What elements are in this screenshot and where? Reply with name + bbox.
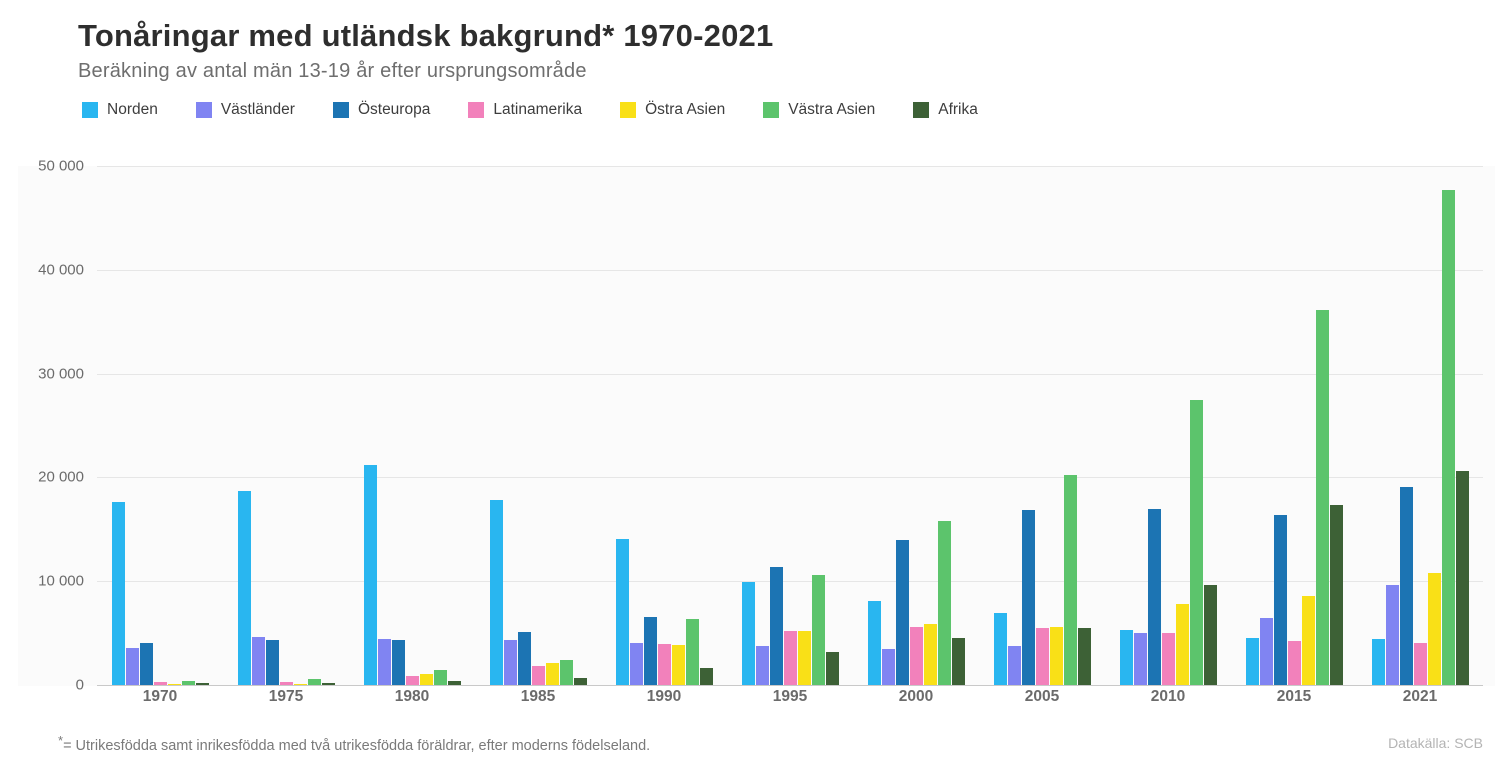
- page-subtitle: Beräkning av antal män 13-19 år efter ur…: [78, 60, 1505, 83]
- legend-item-label: Latinamerika: [493, 101, 582, 119]
- bar-västra-asien-1980[interactable]: [434, 670, 447, 685]
- page-title: Tonåringar med utländsk bakgrund* 1970-2…: [78, 18, 1505, 54]
- bar-östra-asien-1975[interactable]: [294, 684, 307, 685]
- bar-latinamerika-1975[interactable]: [280, 682, 293, 685]
- bar-afrika-2021[interactable]: [1456, 471, 1469, 685]
- bar-group-1970: [97, 166, 223, 685]
- bar-västländer-2010[interactable]: [1134, 633, 1147, 685]
- bar-östeuropa-2000[interactable]: [896, 540, 909, 685]
- legend-swatch-icon: [196, 102, 212, 118]
- bar-östeuropa-2021[interactable]: [1400, 487, 1413, 685]
- bar-östra-asien-1985[interactable]: [546, 663, 559, 685]
- bar-östra-asien-1995[interactable]: [798, 631, 811, 685]
- legend-item-label: Östra Asien: [645, 101, 725, 119]
- bar-östra-asien-1970[interactable]: [168, 684, 181, 685]
- bar-norden-1970[interactable]: [112, 502, 125, 685]
- y-axis-tick-label: 50 000: [0, 158, 84, 175]
- bar-västra-asien-1990[interactable]: [686, 619, 699, 685]
- bar-group-2021: [1357, 166, 1483, 685]
- x-axis-tick-label: 1985: [475, 688, 601, 706]
- bar-norden-2021[interactable]: [1372, 639, 1385, 685]
- x-axis-tick-label: 2000: [853, 688, 979, 706]
- bar-östeuropa-1990[interactable]: [644, 617, 657, 686]
- data-source: Datakälla: SCB: [1388, 735, 1483, 751]
- x-axis-tick-label: 2005: [979, 688, 1105, 706]
- bar-västländer-1975[interactable]: [252, 637, 265, 685]
- bar-norden-1975[interactable]: [238, 491, 251, 685]
- bar-östra-asien-2010[interactable]: [1176, 604, 1189, 685]
- bar-group-2015: [1231, 166, 1357, 685]
- bar-västra-asien-1975[interactable]: [308, 679, 321, 685]
- bar-västra-asien-2015[interactable]: [1316, 310, 1329, 685]
- bar-latinamerika-1985[interactable]: [532, 666, 545, 685]
- legend-item-latinamerika[interactable]: Latinamerika: [468, 101, 582, 119]
- bar-group-1980: [349, 166, 475, 685]
- legend-swatch-icon: [82, 102, 98, 118]
- bar-västländer-2000[interactable]: [882, 649, 895, 685]
- bar-norden-2005[interactable]: [994, 613, 1007, 685]
- bar-östra-asien-2021[interactable]: [1428, 573, 1441, 685]
- legend-swatch-icon: [763, 102, 779, 118]
- bar-afrika-2015[interactable]: [1330, 505, 1343, 685]
- x-axis-labels: 1970197519801985199019952000200520102015…: [97, 688, 1483, 706]
- legend-item-label: Östeuropa: [358, 101, 430, 119]
- bar-östra-asien-1990[interactable]: [672, 645, 685, 685]
- bar-västra-asien-1970[interactable]: [182, 681, 195, 685]
- bar-afrika-2010[interactable]: [1204, 585, 1217, 685]
- x-axis-tick-label: 2015: [1231, 688, 1357, 706]
- bar-afrika-1970[interactable]: [196, 683, 209, 685]
- bar-group-2005: [979, 166, 1105, 685]
- legend-item-norden[interactable]: Norden: [82, 101, 158, 119]
- bar-latinamerika-1990[interactable]: [658, 644, 671, 685]
- chart-footer: *= Utrikesfödda samt inrikesfödda med tv…: [0, 728, 1505, 758]
- bar-västländer-2005[interactable]: [1008, 646, 1021, 685]
- bar-latinamerika-2005[interactable]: [1036, 628, 1049, 685]
- legend-swatch-icon: [913, 102, 929, 118]
- bar-östra-asien-2005[interactable]: [1050, 627, 1063, 685]
- y-axis-tick-label: 40 000: [0, 261, 84, 278]
- bar-afrika-1995[interactable]: [826, 652, 839, 685]
- bar-latinamerika-2015[interactable]: [1288, 641, 1301, 685]
- legend-item-label: Västra Asien: [788, 101, 875, 119]
- bar-östeuropa-1995[interactable]: [770, 567, 783, 685]
- bar-västra-asien-1985[interactable]: [560, 660, 573, 685]
- bar-västra-asien-1995[interactable]: [812, 575, 825, 685]
- bar-group-2000: [853, 166, 979, 685]
- bar-östeuropa-1975[interactable]: [266, 640, 279, 685]
- y-axis-tick-label: 20 000: [0, 469, 84, 486]
- bar-östeuropa-1985[interactable]: [518, 632, 531, 685]
- bar-afrika-2005[interactable]: [1078, 628, 1091, 685]
- chart-plot-area: 010 00020 00030 00040 00050 000: [0, 166, 1505, 688]
- bar-afrika-1980[interactable]: [448, 681, 461, 685]
- bar-afrika-1975[interactable]: [322, 683, 335, 685]
- x-axis-tick-label: 1970: [97, 688, 223, 706]
- x-axis-tick-label: 1975: [223, 688, 349, 706]
- bar-östeuropa-2015[interactable]: [1274, 515, 1287, 685]
- bar-västländer-1990[interactable]: [630, 643, 643, 685]
- chart-legend: NordenVästländerÖsteuropaLatinamerikaÖst…: [0, 83, 1505, 119]
- chart-header: Tonåringar med utländsk bakgrund* 1970-2…: [0, 0, 1505, 83]
- bar-västra-asien-2021[interactable]: [1442, 190, 1455, 685]
- x-axis-tick-label: 2010: [1105, 688, 1231, 706]
- bar-västra-asien-2010[interactable]: [1190, 400, 1203, 685]
- bar-östra-asien-1980[interactable]: [420, 674, 433, 685]
- bar-latinamerika-2010[interactable]: [1162, 633, 1175, 685]
- legend-item-label: Norden: [107, 101, 158, 119]
- bar-västra-asien-2005[interactable]: [1064, 475, 1077, 685]
- bar-västländer-1980[interactable]: [378, 639, 391, 685]
- bar-östeuropa-2010[interactable]: [1148, 509, 1161, 685]
- bar-afrika-1990[interactable]: [700, 668, 713, 685]
- bars-layer: [97, 166, 1483, 685]
- y-axis-tick-label: 10 000: [0, 573, 84, 590]
- legend-item-västra-asien[interactable]: Västra Asien: [763, 101, 875, 119]
- x-axis-tick-label: 1995: [727, 688, 853, 706]
- bar-latinamerika-1970[interactable]: [154, 682, 167, 685]
- bar-group-1985: [475, 166, 601, 685]
- bar-västländer-1970[interactable]: [126, 648, 139, 685]
- bar-norden-1980[interactable]: [364, 465, 377, 685]
- bar-norden-1995[interactable]: [742, 582, 755, 685]
- bar-västländer-2015[interactable]: [1260, 618, 1273, 685]
- bar-group-2010: [1105, 166, 1231, 685]
- bar-norden-2000[interactable]: [868, 601, 881, 685]
- bar-norden-2015[interactable]: [1246, 638, 1259, 685]
- bar-västländer-2021[interactable]: [1386, 585, 1399, 685]
- bar-östeuropa-1980[interactable]: [392, 640, 405, 685]
- legend-item-östra-asien[interactable]: Östra Asien: [620, 101, 725, 119]
- bar-latinamerika-2000[interactable]: [910, 627, 923, 685]
- x-axis-tick-label: 2021: [1357, 688, 1483, 706]
- bar-group-1995: [727, 166, 853, 685]
- y-axis-tick-label: 0: [0, 677, 84, 694]
- legend-item-label: Västländer: [221, 101, 295, 119]
- bar-afrika-1985[interactable]: [574, 678, 587, 685]
- legend-swatch-icon: [468, 102, 484, 118]
- footnote-text: = Utrikesfödda samt inrikesfödda med två…: [63, 738, 650, 754]
- x-axis-tick-label: 1990: [601, 688, 727, 706]
- gridline: [97, 685, 1483, 686]
- bar-norden-1985[interactable]: [490, 500, 503, 685]
- bar-östra-asien-2000[interactable]: [924, 624, 937, 685]
- legend-item-label: Afrika: [938, 101, 978, 119]
- legend-item-västländer[interactable]: Västländer: [196, 101, 295, 119]
- bar-norden-2010[interactable]: [1120, 630, 1133, 685]
- legend-item-östeuropa[interactable]: Östeuropa: [333, 101, 430, 119]
- bar-latinamerika-2021[interactable]: [1414, 643, 1427, 685]
- bar-östra-asien-2015[interactable]: [1302, 596, 1315, 685]
- legend-item-afrika[interactable]: Afrika: [913, 101, 978, 119]
- legend-swatch-icon: [620, 102, 636, 118]
- bar-västländer-1985[interactable]: [504, 640, 517, 685]
- bar-afrika-2000[interactable]: [952, 638, 965, 685]
- bar-group-1975: [223, 166, 349, 685]
- bar-västra-asien-2000[interactable]: [938, 521, 951, 685]
- x-axis-tick-label: 1980: [349, 688, 475, 706]
- bar-latinamerika-1980[interactable]: [406, 676, 419, 685]
- bar-östeuropa-2005[interactable]: [1022, 510, 1035, 685]
- footnote: *= Utrikesfödda samt inrikesfödda med tv…: [58, 733, 650, 754]
- y-axis-tick-label: 30 000: [0, 365, 84, 382]
- bar-västländer-1995[interactable]: [756, 646, 769, 685]
- bar-östeuropa-1970[interactable]: [140, 643, 153, 685]
- legend-swatch-icon: [333, 102, 349, 118]
- bar-norden-1990[interactable]: [616, 539, 629, 685]
- bar-latinamerika-1995[interactable]: [784, 631, 797, 685]
- bar-group-1990: [601, 166, 727, 685]
